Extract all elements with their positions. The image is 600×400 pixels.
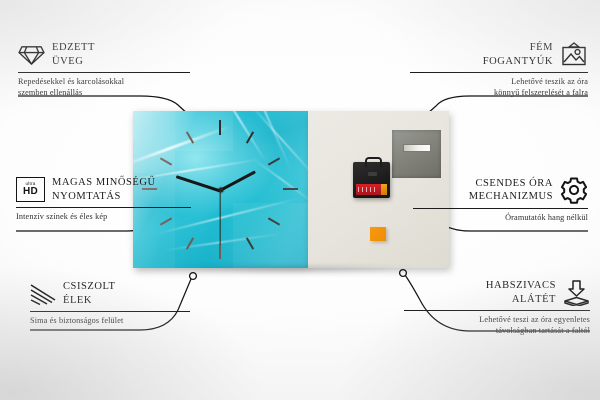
infographic-canvas: EDZETT ÜVEG Repedésekkel és karcolásokka… [0, 0, 600, 400]
callout-divider [30, 311, 190, 312]
callout-divider [16, 207, 191, 208]
callout-metal-handles: FÉM FOGANTYÚK Lehetővé teszik az óra kön… [410, 41, 588, 98]
callout-title-line2: FOGANTYÚK [483, 55, 553, 69]
callout-desc-line1: Óramutatók hang nélkül [413, 212, 588, 223]
ultra-hd-icon-main-label: HD [23, 187, 38, 197]
callout-desc-line2: könnyű felszerelését a falra [410, 87, 588, 98]
hanger-slot [403, 144, 431, 152]
callout-title-line2: ALÁTÉT [486, 293, 556, 307]
callout-title-line2: NYOMTATÁS [52, 190, 156, 204]
ultra-hd-icon: ultra HD [16, 177, 45, 202]
mechanism-hook [365, 157, 382, 167]
callout-silent-mechanism: CSENDES ÓRA MECHANIZMUS Óramutatók hang … [413, 176, 588, 223]
diamond-icon [18, 43, 45, 66]
callout-desc-line1: Repedésekkel és karcolásokkal [18, 76, 190, 87]
callout-desc-line1: Lehetővé teszik az óra [410, 76, 588, 87]
callout-title-line1: EDZETT [52, 41, 95, 55]
callout-desc-line2: szemben ellenállás [18, 87, 190, 98]
callout-title-line2: MECHANIZMUS [469, 190, 553, 204]
callout-title-line2: ÉLEK [63, 294, 115, 308]
callout-title-line1: MAGAS MINŐSÉGŰ [52, 176, 156, 190]
battery [356, 184, 387, 195]
foam-spacer-pad [370, 227, 386, 241]
callout-polished-edges: CSISZOLT ÉLEK Sima és biztonságos felüle… [30, 280, 190, 326]
callout-title-line1: CSENDES ÓRA [469, 177, 553, 191]
connector-handles [427, 96, 588, 114]
callout-desc-line1: Intenzív színek és éles kép [16, 211, 191, 222]
callout-divider [410, 72, 588, 73]
battery-cap [381, 184, 387, 195]
callout-tempered-glass: EDZETT ÜVEG Repedésekkel és karcolásokka… [18, 41, 190, 98]
callout-divider [413, 208, 588, 209]
mechanism-shaft [368, 172, 377, 176]
callout-title-line1: HABSZIVACS [486, 279, 556, 293]
callout-high-quality-print: ultra HD MAGAS MINŐSÉGŰ NYOMTATÁS Intenz… [16, 176, 191, 222]
callout-divider [404, 310, 590, 311]
callout-desc-line2: távolságban tartását a faltól [404, 325, 590, 336]
metal-hanger-plate [392, 130, 441, 178]
callout-title-line1: CSISZOLT [63, 280, 115, 294]
product-shadow [129, 266, 453, 276]
clock-mechanism [353, 162, 390, 198]
callout-foam-spacer: HABSZIVACS ALÁTÉT Lehetővé teszi az óra … [404, 279, 590, 336]
polished-edges-icon [30, 283, 56, 305]
callout-desc-line1: Lehetővé teszi az óra egyenletes [404, 314, 590, 325]
battery-label [358, 187, 378, 192]
picture-frame-hanger-icon [560, 42, 588, 67]
callout-title-line1: FÉM [483, 41, 553, 55]
callout-divider [18, 72, 190, 73]
callout-title-line2: ÜVEG [52, 55, 95, 69]
foam-pad-arrow-icon [563, 280, 590, 306]
gear-icon [560, 176, 588, 204]
callout-desc-line1: Sima és biztonságos felület [30, 315, 190, 326]
